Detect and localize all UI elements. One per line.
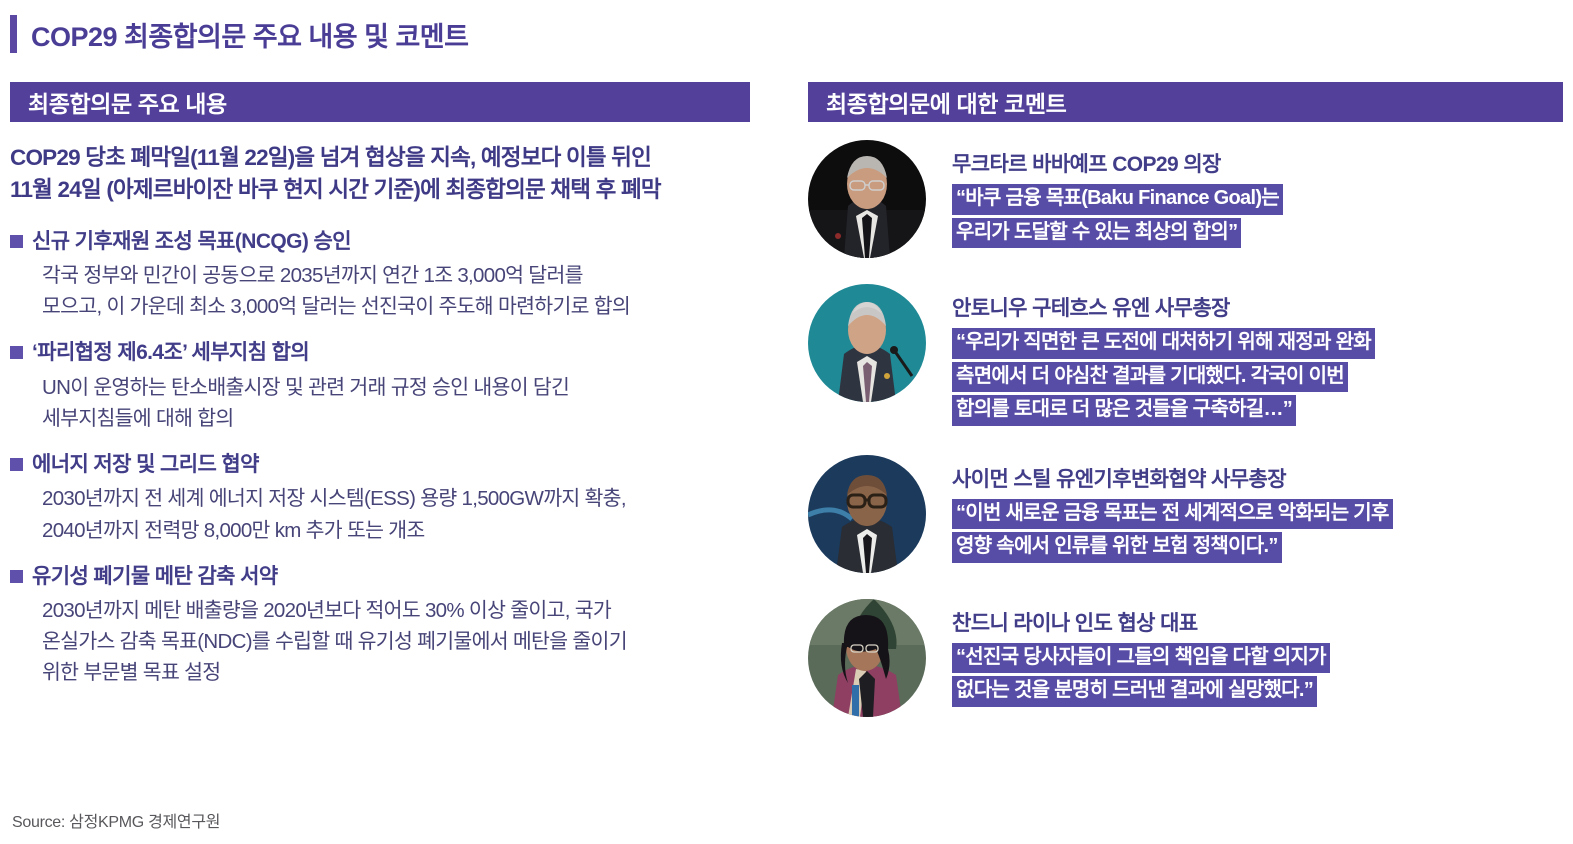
comment-text-block: 안토니우 구테흐스 유엔 사무총장 “우리가 직면한 큰 도전에 대처하기 위해…	[952, 284, 1375, 429]
body-line: 세부지침들에 대해 합의	[42, 403, 770, 434]
comment-text-block: 무크타르 바바예프 COP29 의장 “바쿠 금융 목표(Baku Financ…	[952, 140, 1283, 251]
list-item-heading: ‘파리협정 제6.4조’ 세부지침 합의	[10, 339, 770, 366]
portrait-antonio-guterres	[808, 284, 926, 402]
list-item-heading-label: 유기성 폐기물 메탄 감축 서약	[32, 563, 278, 590]
list-item-body: UN이 운영하는 탄소배출시장 및 관련 거래 규정 승인 내용이 담긴 세부지…	[10, 372, 770, 434]
comment-quote-line: 없다는 것을 분명히 드러낸 결과에 실망했다.”	[952, 676, 1317, 707]
portrait-chandni-raina	[808, 599, 926, 717]
list-item-body: 각국 정부와 민간이 공동으로 2035년까지 연간 1조 3,000억 달러를…	[10, 260, 770, 322]
list-item-body: 2030년까지 전 세계 에너지 저장 시스템(ESS) 용량 1,500GW까…	[10, 483, 770, 545]
comment-person-name: 사이먼 스틸 유엔기후변화협약 사무총장	[952, 463, 1393, 493]
body-line: 온실가스 감축 목표(NDC)를 수립할 때 유기성 폐기물에서 메탄을 줄이기	[42, 626, 770, 657]
comment-entry: 찬드니 라이나 인도 협상 대표 “선진국 당사자들이 그들의 책임을 다할 의…	[808, 599, 1568, 717]
bullet-square-icon	[10, 570, 23, 583]
body-line: 2030년까지 전 세계 에너지 저장 시스템(ESS) 용량 1,500GW까…	[42, 483, 770, 514]
comment-quote-line: 측면에서 더 야심찬 결과를 기대했다. 각국이 이번	[952, 362, 1348, 393]
portrait-simon-stiell	[808, 455, 926, 573]
list-item-heading: 유기성 폐기물 메탄 감축 서약	[10, 563, 770, 590]
bullet-square-icon	[10, 235, 23, 248]
body-line: 2030년까지 메탄 배출량을 2020년보다 적어도 30% 이상 줄이고, …	[42, 595, 770, 626]
lead-paragraph: COP29 당초 폐막일(11월 22일)을 넘겨 협상을 지속, 예정보다 이…	[10, 142, 770, 206]
comment-quote-line: “선진국 당사자들이 그들의 책임을 다할 의지가	[952, 643, 1330, 674]
list-item-heading-label: ‘파리협정 제6.4조’ 세부지침 합의	[32, 339, 309, 366]
comment-entry: 사이먼 스틸 유엔기후변화협약 사무총장 “이번 새로운 금융 목표는 전 세계…	[808, 455, 1568, 573]
source-note: Source: 삼정KPMG 경제연구원	[12, 808, 220, 832]
comment-quote-line: 영향 속에서 인류를 위한 보험 정책이다.”	[952, 532, 1282, 563]
lead-line: 11월 24일 (아제르바이잔 바쿠 현지 시간 기준)에 최종합의문 채택 후…	[10, 174, 770, 206]
page-title: COP29 최종합의문 주요 내용 및 코멘트	[31, 15, 468, 54]
list-item-heading-label: 에너지 저장 및 그리드 협약	[32, 451, 259, 478]
section-header-right: 최종합의문에 대한 코멘트	[808, 82, 1563, 122]
body-line: 각국 정부와 민간이 공동으로 2035년까지 연간 1조 3,000억 달러를	[42, 260, 770, 291]
list-item: ‘파리협정 제6.4조’ 세부지침 합의 UN이 운영하는 탄소배출시장 및 관…	[10, 339, 770, 434]
comment-person-name: 찬드니 라이나 인도 협상 대표	[952, 607, 1330, 637]
comment-quote-line: “이번 새로운 금융 목표는 전 세계적으로 악화되는 기후	[952, 499, 1393, 530]
comment-person-name: 안토니우 구테흐스 유엔 사무총장	[952, 292, 1375, 322]
comment-entry: 무크타르 바바예프 COP29 의장 “바쿠 금융 목표(Baku Financ…	[808, 140, 1568, 258]
right-comments-column: 무크타르 바바예프 COP29 의장 “바쿠 금융 목표(Baku Financ…	[808, 140, 1568, 743]
title-accent-bar	[10, 15, 17, 53]
lead-line: COP29 당초 폐막일(11월 22일)을 넘겨 협상을 지속, 예정보다 이…	[10, 142, 770, 174]
comment-text-block: 사이먼 스틸 유엔기후변화협약 사무총장 “이번 새로운 금융 목표는 전 세계…	[952, 455, 1393, 566]
list-item: 유기성 폐기물 메탄 감축 서약 2030년까지 메탄 배출량을 2020년보다…	[10, 563, 770, 689]
list-item: 에너지 저장 및 그리드 협약 2030년까지 전 세계 에너지 저장 시스템(…	[10, 451, 770, 546]
comment-entry: 안토니우 구테흐스 유엔 사무총장 “우리가 직면한 큰 도전에 대처하기 위해…	[808, 284, 1568, 429]
list-item-heading: 에너지 저장 및 그리드 협약	[10, 451, 770, 478]
body-line: 모으고, 이 가운데 최소 3,000억 달러는 선진국이 주도해 마련하기로 …	[42, 291, 770, 322]
comment-quote-line: “우리가 직면한 큰 도전에 대처하기 위해 재정과 완화	[952, 328, 1375, 359]
section-header-left-label: 최종합의문 주요 내용	[28, 85, 227, 119]
body-line: 위한 부문별 목표 설정	[42, 657, 770, 688]
comment-text-block: 찬드니 라이나 인도 협상 대표 “선진국 당사자들이 그들의 책임을 다할 의…	[952, 599, 1330, 710]
body-line: UN이 운영하는 탄소배출시장 및 관련 거래 규정 승인 내용이 담긴	[42, 372, 770, 403]
bullet-square-icon	[10, 346, 23, 359]
body-line: 2040년까지 전력망 8,000만 km 추가 또는 개조	[42, 515, 770, 546]
bullet-square-icon	[10, 458, 23, 471]
comment-quote-line: 우리가 도달할 수 있는 최상의 합의”	[952, 218, 1241, 249]
list-item-heading-label: 신규 기후재원 조성 목표(NCQG) 승인	[32, 228, 351, 255]
page-title-row: COP29 최종합의문 주요 내용 및 코멘트	[10, 12, 468, 56]
portrait-mukhtar-babayev	[808, 140, 926, 258]
section-header-left: 최종합의문 주요 내용	[10, 82, 750, 122]
list-item-heading: 신규 기후재원 조성 목표(NCQG) 승인	[10, 228, 770, 255]
left-content-column: COP29 당초 폐막일(11월 22일)을 넘겨 협상을 지속, 예정보다 이…	[10, 142, 770, 705]
list-item: 신규 기후재원 조성 목표(NCQG) 승인 각국 정부와 민간이 공동으로 2…	[10, 228, 770, 323]
comment-quote-line: 합의를 토대로 더 많은 것들을 구축하길…”	[952, 395, 1296, 426]
comment-person-name: 무크타르 바바예프 COP29 의장	[952, 148, 1283, 178]
list-item-body: 2030년까지 메탄 배출량을 2020년보다 적어도 30% 이상 줄이고, …	[10, 595, 770, 688]
section-header-right-label: 최종합의문에 대한 코멘트	[826, 85, 1066, 119]
comment-quote-line: “바쿠 금융 목표(Baku Finance Goal)는	[952, 184, 1283, 215]
